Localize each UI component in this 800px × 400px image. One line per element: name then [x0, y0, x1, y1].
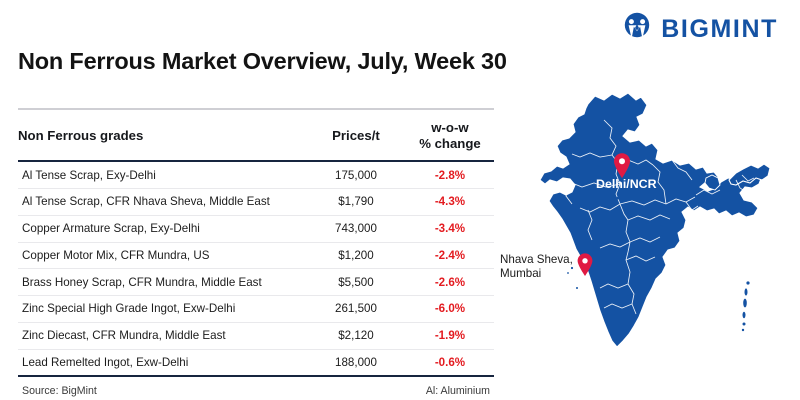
brand-wordmark: BIGMINT — [661, 17, 778, 42]
table-row: Al Tense Scrap, Exy-Delhi175,000-2.8% — [18, 161, 494, 188]
cell-price: 188,000 — [306, 349, 406, 376]
table-body: Al Tense Scrap, Exy-Delhi175,000-2.8%Al … — [18, 161, 494, 376]
column-header-wow-line2: % change — [419, 136, 481, 151]
map-label-nhava-sheva: Nhava Sheva, Mumbai — [500, 253, 573, 282]
cell-price: 261,500 — [306, 296, 406, 323]
india-landmass — [540, 93, 770, 347]
inland-marker-dot — [617, 197, 620, 200]
cell-grade-name: Al Tense Scrap, Exy-Delhi — [18, 161, 306, 188]
column-header-grades: Non Ferrous grades — [18, 109, 306, 161]
table-row: Copper Armature Scrap, Exy-Delhi743,000-… — [18, 215, 494, 242]
non-ferrous-grades-table: Non Ferrous grades Prices/t w-o-w % chan… — [18, 108, 494, 377]
cell-grade-name: Copper Armature Scrap, Exy-Delhi — [18, 215, 306, 242]
cell-grade-name: Zinc Diecast, CFR Mundra, Middle East — [18, 322, 306, 349]
table-header-row: Non Ferrous grades Prices/t w-o-w % chan… — [18, 109, 494, 161]
column-header-prices: Prices/t — [306, 109, 406, 161]
column-header-wow-line1: w-o-w — [431, 120, 468, 135]
source-note: Source: BigMint — [22, 385, 97, 397]
cell-price: $2,120 — [306, 322, 406, 349]
cell-grade-name: Lead Remelted Ingot, Exw-Delhi — [18, 349, 306, 376]
table-row: Al Tense Scrap, CFR Nhava Sheva, Middle … — [18, 188, 494, 215]
table-row: Lead Remelted Ingot, Exw-Delhi188,000-0.… — [18, 349, 494, 376]
cell-wow-change: -3.4% — [406, 215, 494, 242]
column-header-wow-change: w-o-w % change — [406, 109, 494, 161]
india-map-panel: Delhi/NCR Nhava Sheva, Mumbai — [500, 60, 800, 400]
cell-grade-name: Zinc Special High Grade Ingot, Exw-Delhi — [18, 296, 306, 323]
cell-wow-change: -2.8% — [406, 161, 494, 188]
table-row: Copper Motor Mix, CFR Mundra, US$1,200-2… — [18, 242, 494, 269]
cell-price: $1,200 — [306, 242, 406, 269]
cell-wow-change: -2.6% — [406, 269, 494, 296]
india-map-svg — [500, 60, 800, 400]
non-ferrous-table-container: Non Ferrous grades Prices/t w-o-w % chan… — [18, 108, 494, 397]
cell-price: 175,000 — [306, 161, 406, 188]
andaman-nicobar-islands — [742, 281, 750, 331]
cell-wow-change: -2.4% — [406, 242, 494, 269]
cell-price: 743,000 — [306, 215, 406, 242]
cell-wow-change: -1.9% — [406, 322, 494, 349]
cell-wow-change: -6.0% — [406, 296, 494, 323]
cell-price: $5,500 — [306, 269, 406, 296]
cell-wow-change: -4.3% — [406, 188, 494, 215]
cell-grade-name: Copper Motor Mix, CFR Mundra, US — [18, 242, 306, 269]
brand-logo: BIGMINT — [622, 12, 778, 47]
table-footer: Source: BigMint Al: Aluminium — [18, 377, 494, 397]
bigmint-circle-m-icon — [622, 12, 652, 47]
table-row: Zinc Diecast, CFR Mundra, Middle East$2,… — [18, 322, 494, 349]
cell-grade-name: Al Tense Scrap, CFR Nhava Sheva, Middle … — [18, 188, 306, 215]
cell-wow-change: -0.6% — [406, 349, 494, 376]
abbreviation-note: Al: Aluminium — [426, 385, 490, 397]
page-title: Non Ferrous Market Overview, July, Week … — [18, 48, 507, 75]
cell-price: $1,790 — [306, 188, 406, 215]
cell-grade-name: Brass Honey Scrap, CFR Mundra, Middle Ea… — [18, 269, 306, 296]
map-label-delhi: Delhi/NCR — [596, 177, 657, 193]
table-row: Brass Honey Scrap, CFR Mundra, Middle Ea… — [18, 269, 494, 296]
table-row: Zinc Special High Grade Ingot, Exw-Delhi… — [18, 296, 494, 323]
